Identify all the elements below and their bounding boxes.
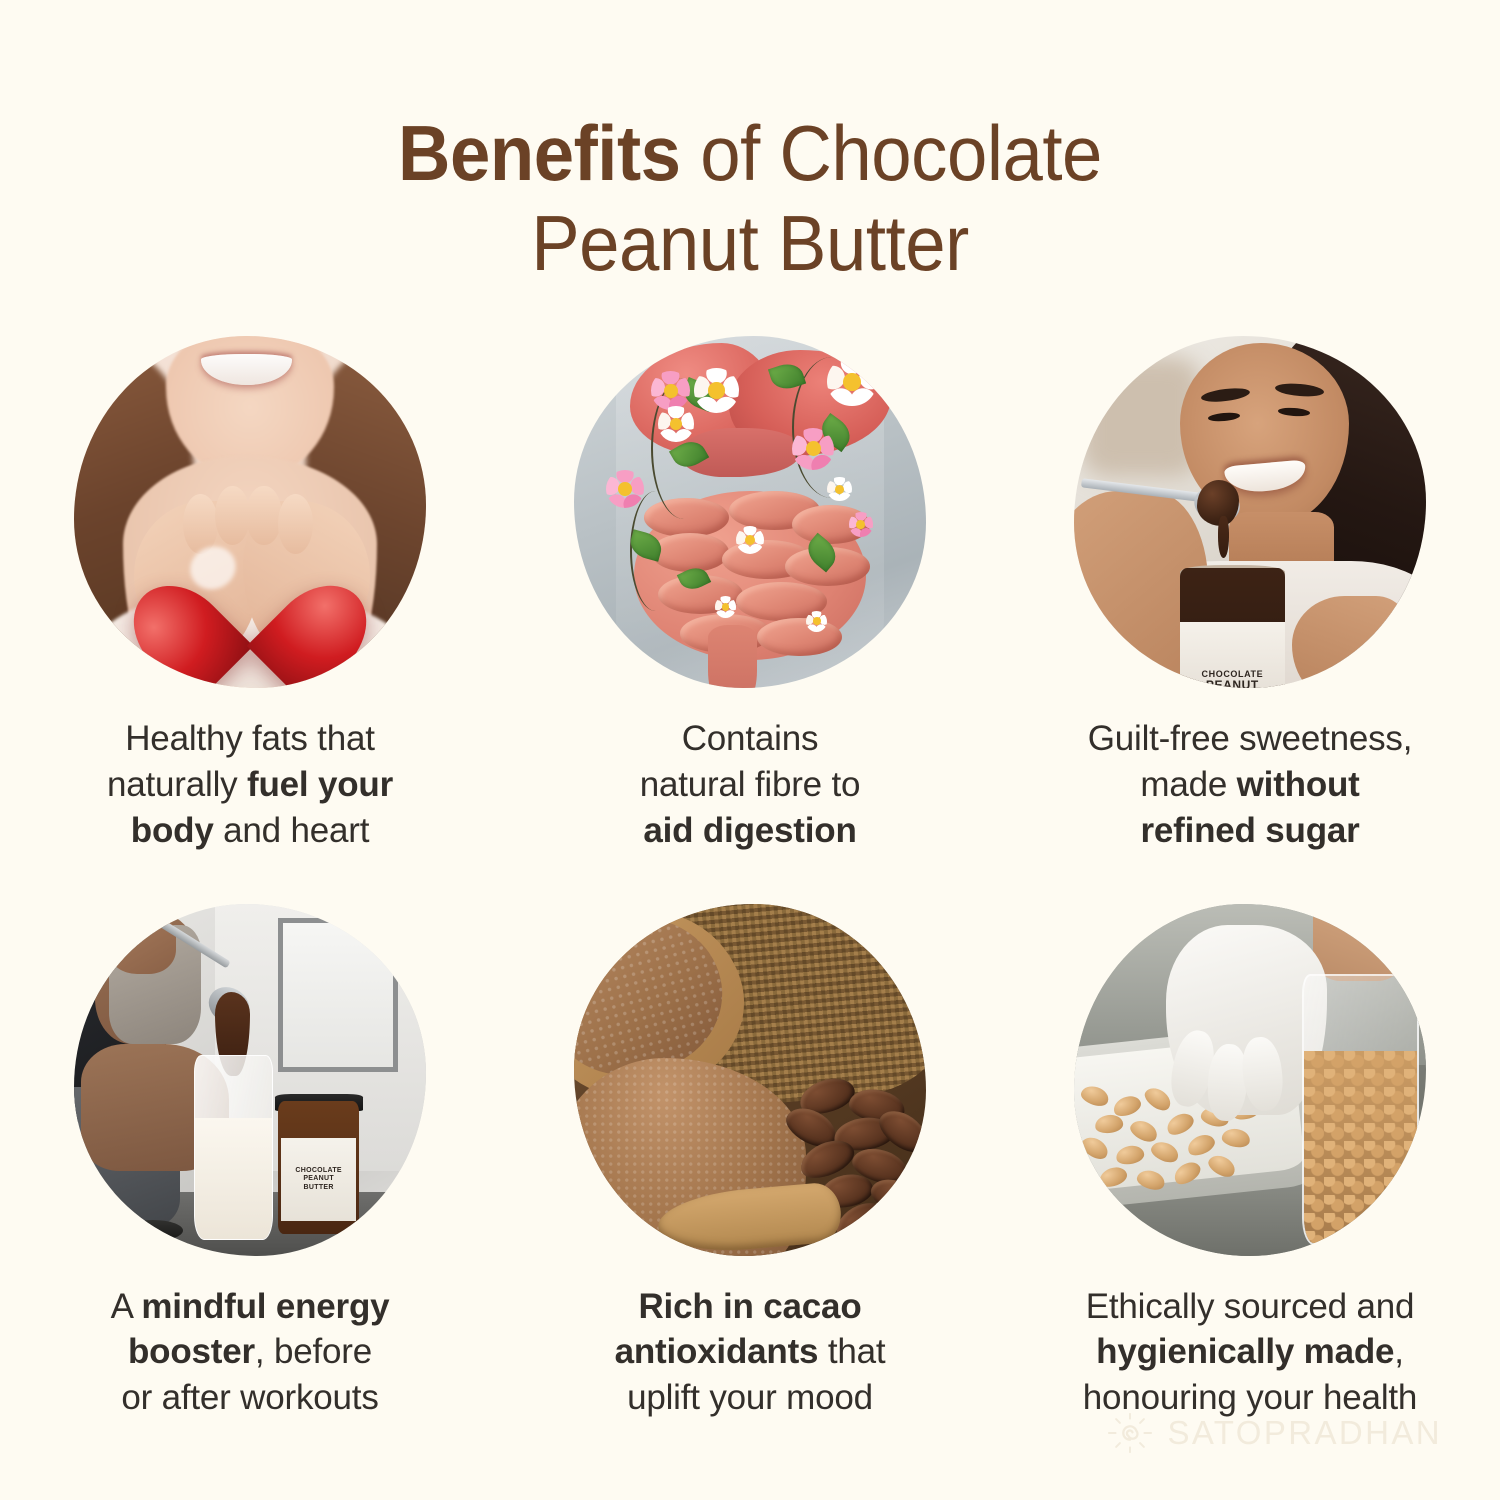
title-rest: of Chocolate	[681, 109, 1102, 197]
chocolate-peanut-jar: CHOCOLATE PEANUT	[1180, 568, 1286, 688]
benefit-card-no-refined-sugar: CHOCOLATE PEANUT Guilt-free sweetness,ma…	[1000, 336, 1500, 854]
cacao-powder-and-beans-image	[574, 904, 926, 1256]
benefit-caption-2: Containsnatural fibre toaid digestion	[550, 716, 950, 854]
peanut-jar	[1302, 974, 1419, 1246]
chocolate-spread-dollop	[1197, 480, 1239, 526]
benefit-caption-5: Rich in cacaoantioxidants thatuplift you…	[550, 1284, 950, 1422]
jar-label-line-2: PEANUT	[303, 1175, 334, 1183]
brand-watermark: SATOPRADHAN	[1107, 1410, 1442, 1456]
woman-eating-chocolate-spread-image: CHOCOLATE PEANUT	[1074, 336, 1426, 688]
benefit-caption-1: Healthy fats thatnaturally fuel yourbody…	[50, 716, 450, 854]
brand-name: SATOPRADHAN	[1167, 1414, 1442, 1452]
benefit-card-energy-booster: CHOCOLATE PEANUT BUTTER A mindful energy…	[0, 904, 500, 1422]
benefit-card-healthy-fats: Healthy fats thatnaturally fuel yourbody…	[0, 336, 500, 854]
page-title: Benefits of Chocolate Peanut Butter	[0, 0, 1500, 289]
benefit-card-cacao-antioxidants: Rich in cacaoantioxidants thatuplift you…	[500, 904, 1000, 1422]
protein-shaker-bottle	[194, 1055, 273, 1240]
digestive-system-with-flowers-image	[574, 336, 926, 688]
gym-shaker-with-peanut-butter-image: CHOCOLATE PEANUT BUTTER	[74, 904, 426, 1256]
red-heart-icon	[169, 533, 331, 674]
benefit-caption-3: Guilt-free sweetness,made withoutrefined…	[1050, 716, 1450, 854]
gloved-hand-sorting-peanuts-image	[1074, 904, 1426, 1256]
benefits-grid: Healthy fats thatnaturally fuel yourbody…	[0, 336, 1500, 1421]
chocolate-peanut-butter-jar: CHOCOLATE PEANUT BUTTER	[278, 1101, 359, 1235]
jar-label-line-3: BUTTER	[304, 1184, 334, 1192]
benefit-card-ethically-sourced: Ethically sourced andhygienically made,h…	[1000, 904, 1500, 1422]
benefit-caption-6: Ethically sourced andhygienically made,h…	[1050, 1284, 1450, 1422]
benefit-card-fibre: Containsnatural fibre toaid digestion	[500, 336, 1000, 854]
title-line-2: Peanut Butter	[53, 198, 1448, 288]
benefit-caption-4: A mindful energybooster, beforeor after …	[50, 1284, 450, 1422]
title-word-benefits: Benefits	[398, 109, 680, 197]
jar-label-line-2: PEANUT	[1206, 679, 1259, 688]
jar-label-line-1: CHOCOLATE	[295, 1167, 342, 1175]
sun-spiral-icon	[1107, 1410, 1153, 1456]
title-line-1: Benefits of Chocolate	[53, 108, 1448, 198]
woman-holding-red-heart-image	[74, 336, 426, 688]
